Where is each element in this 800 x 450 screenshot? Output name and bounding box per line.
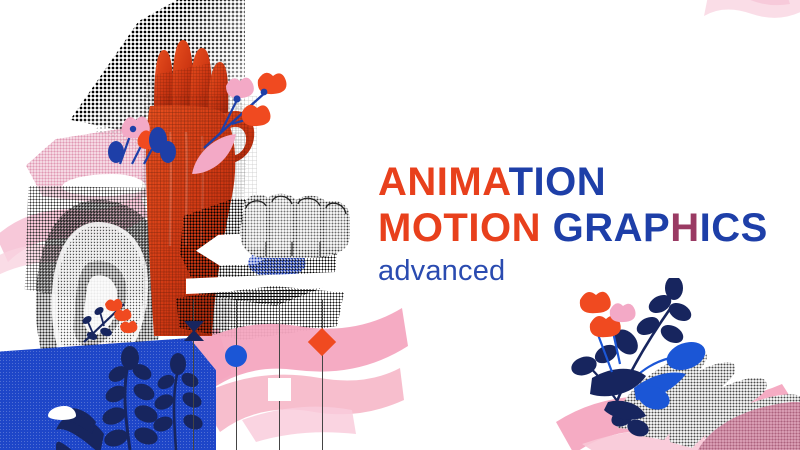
headline-seg-motion: MOTION [378,206,541,250]
grayscale-fist [238,192,354,278]
top-right-pink-brush [690,0,800,66]
white-crescent-detail [48,406,76,420]
bottom-navy-sprig-right [130,352,226,450]
square-marker-icon [268,378,291,401]
headline-seg-space [541,206,553,250]
hourglass-icon [182,320,206,342]
headline-seg-grap: GRAP [553,206,671,250]
marker-line-2 [236,300,237,450]
headline-seg-anima: ANIMA [378,160,509,204]
circle-marker-icon [225,345,247,367]
headline-line-animation: ANIMATION [378,162,778,202]
headline-line-motion-graphics: MOTION GRAPHICS [378,208,778,248]
marker-line-4 [322,300,323,450]
headline-seg-ics: ICS [700,206,768,250]
headline-seg-tion: TION [509,160,607,204]
headline-seg-h: H [670,206,699,250]
pink-leaf-behind-hand [186,130,240,184]
blue-flower-cluster [98,104,176,168]
marker-line-3 [279,300,280,450]
bottom-right-foliage [568,278,748,438]
headline-seg-advanced: advanced [378,255,505,287]
headline-block: ANIMATION MOTION GRAPHICS advanced [378,162,778,286]
poster-canvas: ANIMATION MOTION GRAPHICS advanced [0,0,800,450]
